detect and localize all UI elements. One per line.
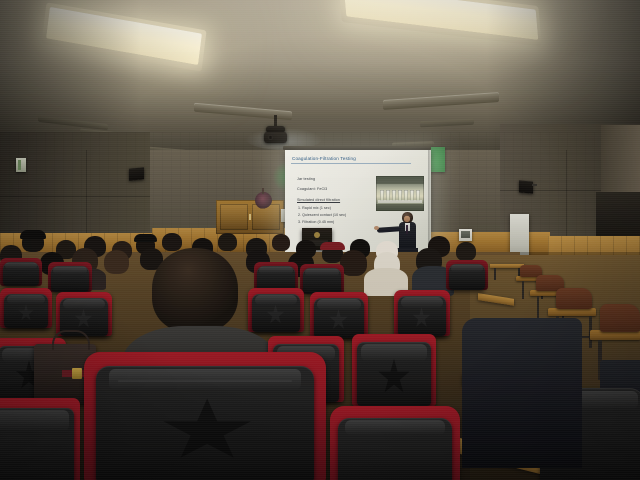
wooden-aisle-chair-seat-3[interactable] — [548, 308, 596, 316]
seat-row3-5-back — [303, 268, 341, 294]
seat-row3-1-back — [3, 262, 39, 286]
slide-bullet-2: 2. Quiescent contact (10 sec) — [298, 213, 346, 217]
wall-speaker-right-bracket — [532, 184, 537, 186]
seat-row6-2-back — [96, 366, 314, 480]
seat-row4-1-back — [4, 294, 48, 328]
seat-row3-2-back — [51, 266, 89, 292]
seat-row4-4-back — [314, 298, 364, 338]
lecture-hall-photo: 술대회 한국 건설환경학회 Coagulation-Filtration Tes… — [0, 0, 640, 480]
slide-bullet-3: 3. Filtration (0.45 mm) — [298, 220, 334, 224]
wooden-aisle-chair-leg-2a — [537, 296, 539, 320]
seat-row6-1-back — [0, 408, 74, 480]
floral-wreath — [255, 192, 272, 209]
wall-speaker-right — [519, 180, 533, 193]
presenter-hand — [374, 226, 379, 230]
presenter-face — [404, 216, 410, 222]
seat-row4-5-back — [398, 296, 446, 336]
seat-row3-6-back — [449, 264, 485, 290]
audience-head-10 — [272, 234, 290, 251]
wooden-aisle-chair-leg-1a — [522, 281, 524, 299]
audience-cap-12 — [320, 242, 345, 250]
slide-photo-jar-test — [376, 176, 424, 211]
slide-line-1: Jar testing — [297, 177, 315, 181]
wreath-hook — [262, 188, 264, 194]
slide-title: Coagulation-Filtration Testing — [292, 156, 425, 161]
right-foreground-attendee — [462, 318, 582, 468]
lectern-emblem — [314, 232, 320, 238]
wall-speaker-left — [129, 167, 144, 181]
slide-line-2: Coagulant: FeCl3 — [297, 187, 327, 191]
wooden-aisle-chair-back-3 — [556, 288, 592, 309]
slide-bullet-1: 1. Rapid mix (1 sec) — [298, 206, 331, 210]
wall-seam-2 — [0, 196, 150, 197]
foreground-attendee-head — [152, 248, 238, 332]
audience-cap-1 — [20, 230, 46, 239]
audience-head-20 — [104, 250, 129, 274]
audience-head-16 — [456, 242, 476, 261]
audience-head-8 — [218, 233, 237, 251]
audience-head-24 — [340, 250, 367, 276]
audience-cap-5 — [134, 234, 157, 242]
seat-row5-3-back — [357, 342, 431, 406]
wooden-aisle-chair-back-4 — [600, 304, 640, 332]
slide-line-3: Simulated direct filtration — [297, 198, 340, 202]
presenter-tie — [406, 225, 408, 234]
seat-row4-3-back — [252, 294, 300, 332]
door-handle-icon[interactable] — [249, 214, 251, 220]
confidence-monitor-screen — [461, 231, 470, 238]
audience-head-6 — [162, 233, 182, 251]
leather-handbag-handle — [52, 330, 90, 350]
wooden-door-panel-left — [220, 204, 248, 230]
leather-handbag-clasp-icon — [72, 368, 82, 379]
seat-row6-3-back — [338, 418, 452, 480]
slide-title-rule — [291, 163, 411, 164]
wall-box-left-strip — [18, 160, 21, 170]
desk-leg-1 — [494, 268, 496, 280]
